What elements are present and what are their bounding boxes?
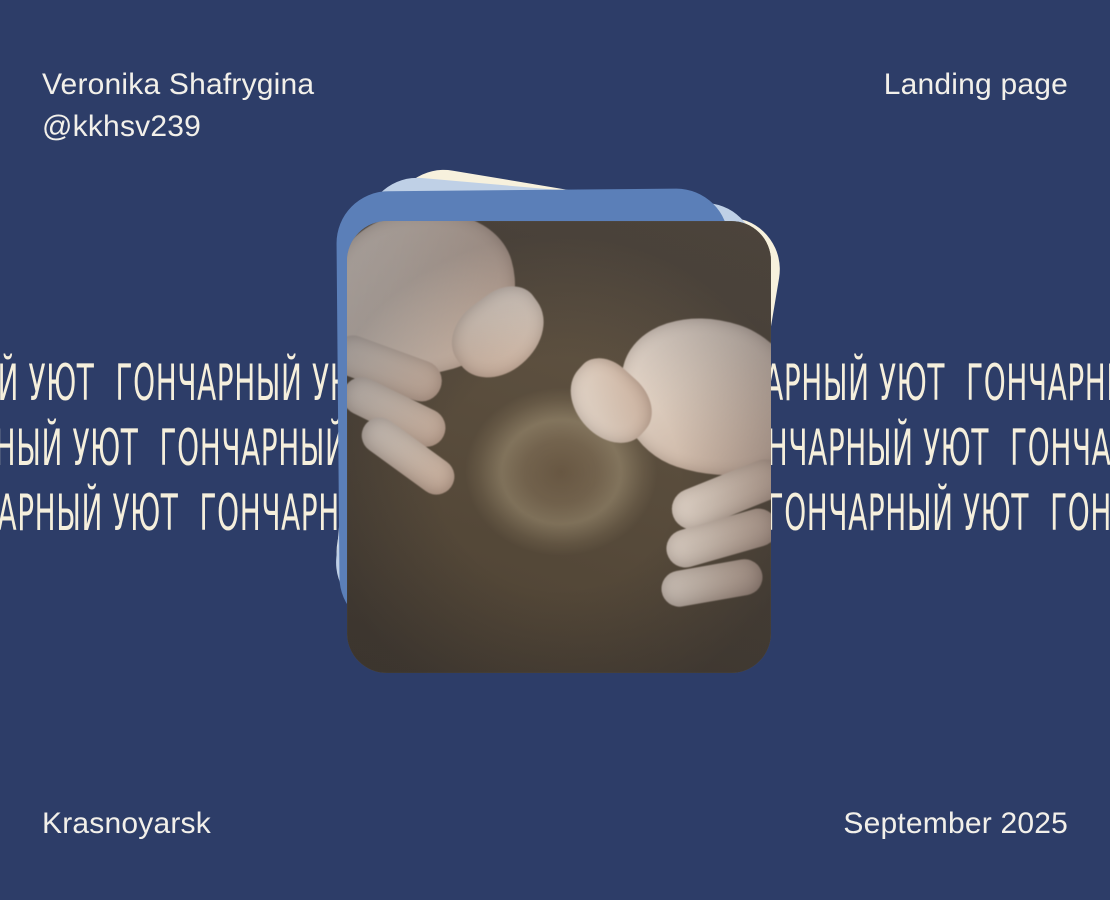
- marquee-phrase: ГОНЧАРНЫЙ УЮТ: [0, 484, 200, 542]
- author-block: Veronika Shafrygina @kkhsv239: [42, 64, 314, 148]
- marquee-phrase: ГОНЧАРНЫЙ УЮТ: [0, 354, 116, 412]
- marquee-phrase: ГОНЧАРНЫЙ УЮТ: [1010, 419, 1110, 477]
- marquee-phrase: ГОНЧАРНЫЙ УЮТ: [966, 354, 1110, 412]
- marquee-phrase: ГОНЧАРНЫЙ УЮТ: [767, 484, 1051, 542]
- pottery-wheel-artwork: [347, 221, 771, 673]
- city-label: Krasnoyarsk: [42, 803, 211, 845]
- author-handle: @kkhsv239: [42, 106, 314, 148]
- hero-image: [347, 221, 771, 673]
- marquee-phrase: ГОНЧАРНЫЙ УЮТ: [1050, 484, 1110, 542]
- date-label: September 2025: [843, 803, 1068, 845]
- author-name: Veronika Shafrygina: [42, 64, 314, 106]
- marquee-phrase: ГОНЧАРНЫЙ УЮТ: [0, 419, 160, 477]
- presentation-slide: ГОНЧАРНЫЙ УЮТГОНЧАРНЫЙ УЮТГОНЧАРНЫЙ УЮТГ…: [0, 0, 1110, 900]
- project-type-label: Landing page: [884, 64, 1068, 106]
